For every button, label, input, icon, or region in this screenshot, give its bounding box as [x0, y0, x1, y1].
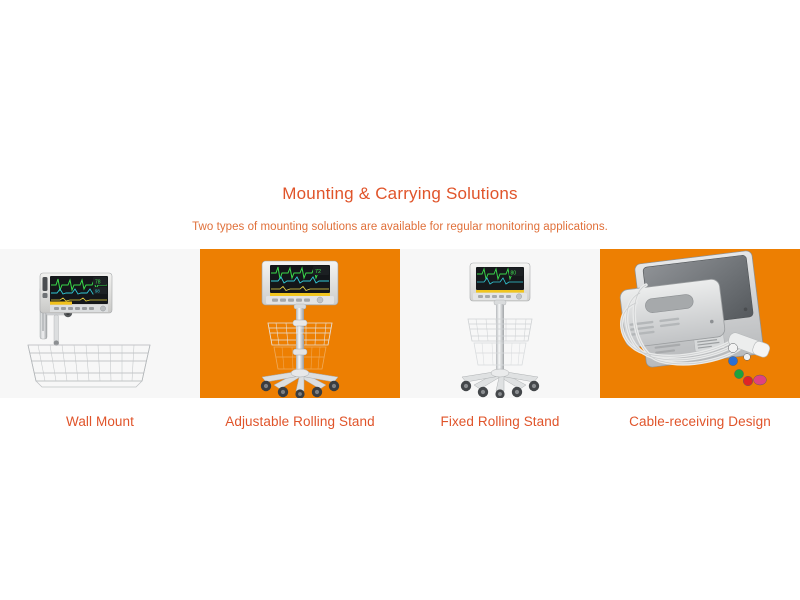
adjustable-rolling-stand-image: 72 — [200, 249, 400, 398]
svg-text:72: 72 — [315, 269, 321, 275]
caption-wall-mount: Wall Mount — [0, 410, 200, 434]
gallery-caption-row: Wall Mount Adjustable Rolling Stand Fixe… — [0, 410, 800, 434]
caption-adjustable-rolling-stand: Adjustable Rolling Stand — [200, 410, 400, 434]
cable-receiving-design-image — [600, 249, 800, 398]
caption-fixed-rolling-stand: Fixed Rolling Stand — [400, 410, 600, 434]
gallery-tile-adjustable-rolling-stand[interactable]: 72 — [200, 249, 400, 398]
page-root: Mounting & Carrying Solutions Two types … — [0, 0, 800, 600]
gallery-tile-cable-receiving-design[interactable] — [600, 249, 800, 398]
section-subtitle: Two types of mounting solutions are avai… — [0, 219, 800, 235]
svg-text:78: 78 — [95, 280, 101, 286]
fixed-rolling-stand-image: 80 — [400, 249, 600, 398]
gallery-tile-fixed-rolling-stand[interactable]: 80 — [400, 249, 600, 398]
svg-text:80: 80 — [511, 271, 517, 277]
section-heading-block: Mounting & Carrying Solutions Two types … — [0, 183, 800, 235]
product-gallery: 78 98 — [0, 249, 800, 398]
wall-mount-image: 78 98 — [0, 249, 200, 398]
svg-text:98: 98 — [95, 289, 100, 294]
gallery-tile-wall-mount[interactable]: 78 98 — [0, 249, 200, 398]
page-title: Mounting & Carrying Solutions — [0, 183, 800, 205]
caption-cable-receiving-design: Cable-receiving Design — [600, 410, 800, 434]
